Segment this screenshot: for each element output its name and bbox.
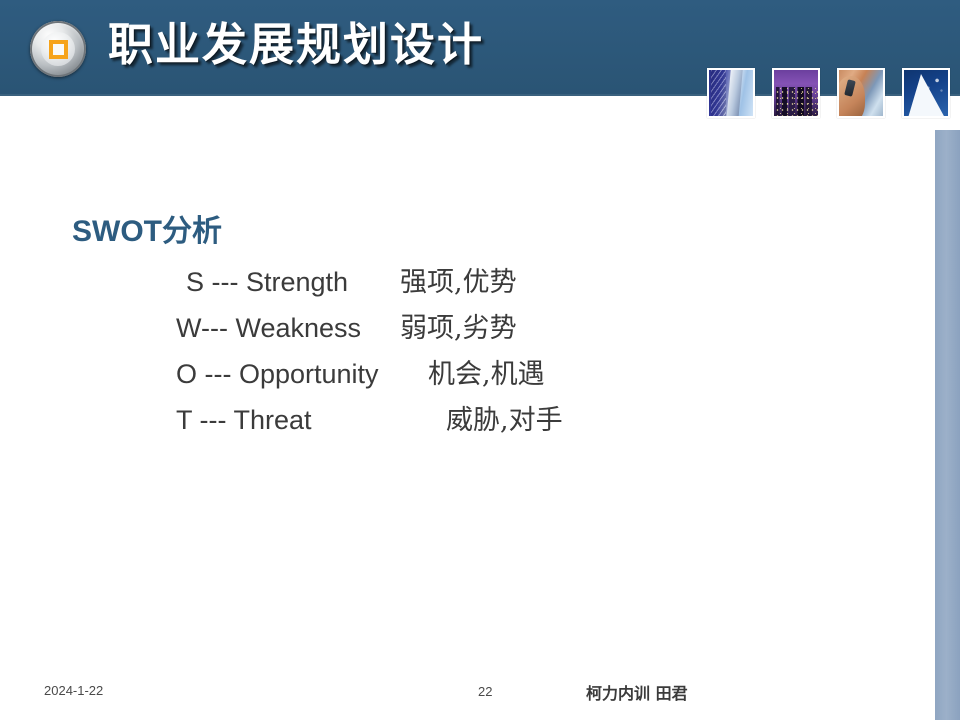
- presentation-slide: 职业发展规划设计 SWOT分析 S --- Strength 强项,优势 W--…: [0, 0, 960, 720]
- blue-glass-tower-thumbnail: [707, 68, 755, 118]
- swot-translation-opportunity: 机会,机遇: [428, 352, 545, 391]
- swot-term-weakness: W--- Weakness: [176, 313, 400, 344]
- swot-term-threat: T --- Threat: [176, 405, 446, 436]
- logo-orange-square: [49, 40, 68, 59]
- swot-definition-list: S --- Strength 强项,优势 W--- Weakness 弱项,劣势…: [0, 260, 700, 444]
- swot-term-strength: S --- Strength: [186, 267, 400, 298]
- logo-inner-disc: [41, 32, 75, 66]
- list-item: S --- Strength 强项,优势: [0, 260, 700, 306]
- swot-analysis-heading: SWOT分析: [72, 206, 222, 250]
- footer-date: 2024-1-22: [44, 683, 103, 698]
- swot-translation-weakness: 弱项,劣势: [400, 306, 517, 345]
- swot-translation-strength: 强项,优势: [400, 260, 517, 299]
- purple-night-cityscape-thumbnail: [772, 68, 820, 118]
- list-item: W--- Weakness 弱项,劣势: [0, 306, 700, 352]
- footer-page-number: 22: [478, 684, 492, 699]
- header-thumbnail-strip: [707, 68, 950, 118]
- slide-header-title: 职业发展规划设计: [108, 11, 484, 79]
- square-in-circle-logo-icon: [30, 21, 86, 77]
- swot-translation-threat: 威胁,对手: [446, 398, 563, 437]
- list-item: O --- Opportunity 机会,机遇: [0, 352, 700, 398]
- footer-author: 柯力内训 田君: [586, 680, 688, 704]
- person-on-mobile-phone-thumbnail: [837, 68, 885, 118]
- slide-body: SWOT分析 S --- Strength 强项,优势 W--- Weaknes…: [0, 96, 935, 656]
- list-item: T --- Threat 威胁,对手: [0, 398, 700, 444]
- right-accent-bar: [935, 130, 960, 720]
- swot-term-opportunity: O --- Opportunity: [176, 359, 428, 390]
- white-modern-building-thumbnail: [902, 68, 950, 118]
